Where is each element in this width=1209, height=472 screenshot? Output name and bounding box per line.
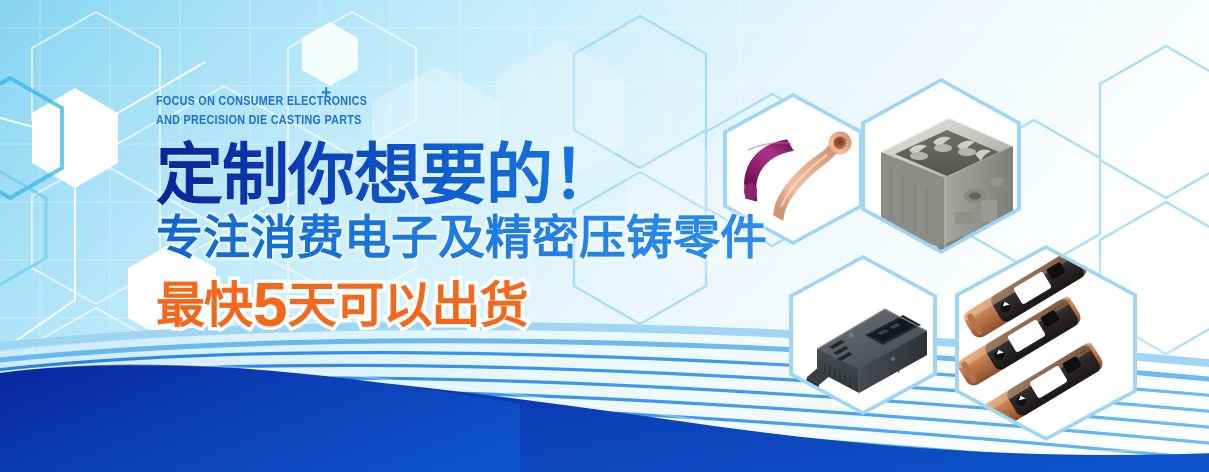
eyebrow-tagline: FOCUS ON CONSUMER ELECTRONICS AND PRECIS… — [156, 92, 681, 129]
eyebrow-line-1: FOCUS ON CONSUMER ELECTRONICS — [156, 92, 681, 111]
product-hex-engine-block — [865, 82, 1017, 250]
banner-copy: FOCUS ON CONSUMER ELECTRONICS AND PRECIS… — [156, 92, 767, 339]
product-hex-copper-housings — [959, 249, 1133, 437]
promo-suffix: 天可以出货 — [288, 279, 528, 333]
promo-text: 最快5天可以出货 — [156, 277, 528, 335]
promo-banner: FOCUS ON CONSUMER ELECTRONICS AND PRECIS… — [0, 0, 1209, 472]
aluminum-engine-block-image — [865, 82, 1017, 250]
promo-number: 5 — [252, 271, 287, 340]
eyebrow-line-2: AND PRECISION DIE CASTING PARTS — [156, 111, 681, 130]
promo-line: 最快5天可以出货 最快5天可以出货 — [156, 277, 767, 339]
subheadline: 专注消费电子及精密压铸零件 — [156, 211, 767, 265]
promo-prefix: 最快 — [156, 279, 252, 333]
plus-icon: + — [321, 83, 331, 103]
headline: 定制你想要的！ — [156, 139, 767, 213]
copper-device-housings-image — [959, 249, 1133, 437]
